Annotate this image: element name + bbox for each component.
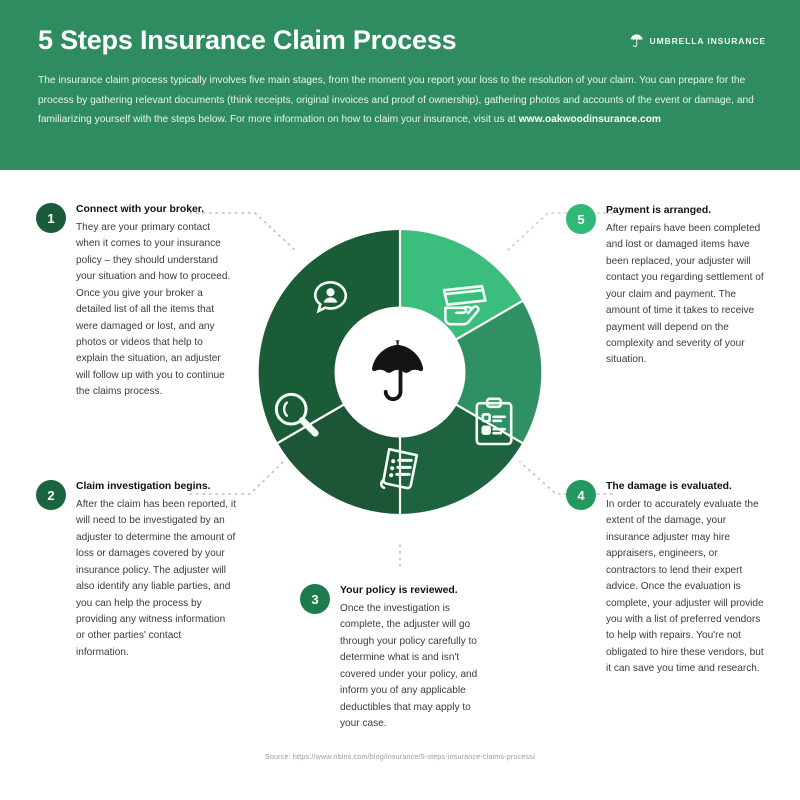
step-body-5: After repairs have been completed and lo… bbox=[606, 223, 764, 366]
step-body-3: Once the investigation is complete, the … bbox=[340, 603, 477, 729]
step-badge-4: 4 bbox=[566, 480, 596, 510]
step-text-3: Your policy is reviewed. Once the invest… bbox=[340, 583, 492, 732]
step-text-4: The damage is evaluated. In order to acc… bbox=[606, 479, 766, 678]
umbrella-icon bbox=[363, 335, 437, 409]
step-heading-2: Claim investigation begins. bbox=[76, 479, 236, 496]
step-heading-1: Connect with your broker. bbox=[76, 202, 236, 219]
intro-paragraph: The insurance claim process typically in… bbox=[38, 71, 766, 131]
step-badge-2: 2 bbox=[36, 480, 66, 510]
step-block-4: 4 The damage is evaluated. In order to a… bbox=[566, 479, 766, 678]
step-heading-4: The damage is evaluated. bbox=[606, 479, 766, 496]
step-badge-1: 1 bbox=[36, 203, 66, 233]
step-body-2: After the claim has been reported, it wi… bbox=[76, 499, 236, 658]
brand-logo: UMBRELLA INSURANCE bbox=[629, 33, 766, 48]
infographic-page: 5 Steps Insurance Claim Process UMBRELLA… bbox=[0, 0, 800, 800]
step-text-1: Connect with your broker. They are your … bbox=[76, 202, 236, 401]
step-block-5: 5 Payment is arranged. After repairs hav… bbox=[566, 203, 768, 369]
step-block-3: 3 Your policy is reviewed. Once the inve… bbox=[300, 583, 492, 732]
process-wheel bbox=[256, 228, 544, 516]
wheel-center-hub bbox=[335, 307, 466, 438]
step-heading-3: Your policy is reviewed. bbox=[340, 583, 492, 600]
brand-name: UMBRELLA INSURANCE bbox=[650, 36, 766, 46]
header-banner: 5 Steps Insurance Claim Process UMBRELLA… bbox=[0, 0, 800, 170]
step-block-1: 1 Connect with your broker. They are you… bbox=[36, 202, 236, 401]
step-text-2: Claim investigation begins. After the cl… bbox=[76, 479, 236, 661]
step-block-2: 2 Claim investigation begins. After the … bbox=[36, 479, 236, 661]
page-title: 5 Steps Insurance Claim Process bbox=[38, 26, 457, 56]
header-top-row: 5 Steps Insurance Claim Process UMBRELLA… bbox=[38, 26, 766, 56]
step-heading-5: Payment is arranged. bbox=[606, 203, 768, 220]
intro-link[interactable]: www.oakwoodinsurance.com bbox=[519, 114, 661, 125]
step-badge-5: 5 bbox=[566, 204, 596, 234]
source-citation: Source: https://www.nbins.com/blog/insur… bbox=[0, 752, 800, 761]
step-badge-3: 3 bbox=[300, 584, 330, 614]
step-body-4: In order to accurately evaluate the exte… bbox=[606, 499, 764, 674]
step-body-1: They are your primary contact when it co… bbox=[76, 222, 230, 397]
umbrella-icon bbox=[629, 33, 644, 48]
step-text-5: Payment is arranged. After repairs have … bbox=[606, 203, 768, 369]
